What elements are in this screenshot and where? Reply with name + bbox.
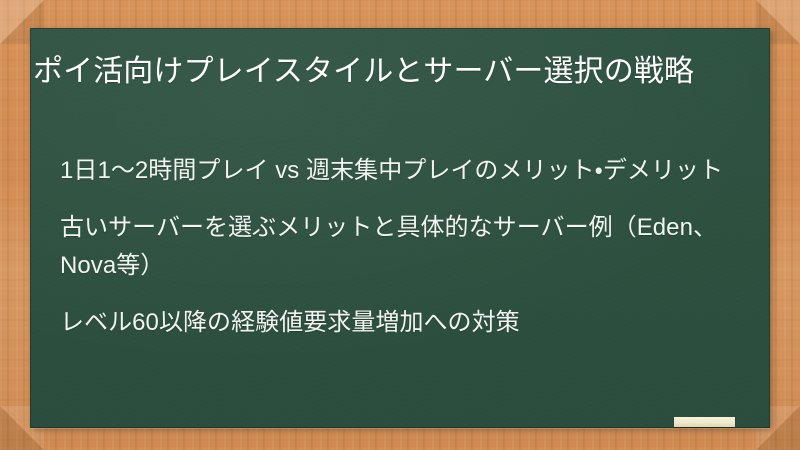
slide-content: ポイ活向けプレイスタイルとサーバー選択の戦略 1日1〜2時間プレイ vs 週末集… (30, 28, 770, 428)
chalkboard-surface: ポイ活向けプレイスタイルとサーバー選択の戦略 1日1〜2時間プレイ vs 週末集… (30, 28, 770, 428)
chalk-piece (674, 417, 735, 427)
chalkboard-slide: ポイ活向けプレイスタイルとサーバー選択の戦略 1日1〜2時間プレイ vs 週末集… (0, 0, 800, 450)
list-item: レベル60以降の経験値要求量増加への対策 (60, 304, 750, 342)
list-item: 古いサーバーを選ぶメリットと具体的なサーバー例（Eden、Nova等） (60, 209, 750, 285)
slide-body-list: 1日1〜2時間プレイ vs 週末集中プレイのメリット・デメリット 古いサーバーを… (60, 152, 750, 342)
list-item: 1日1〜2時間プレイ vs 週末集中プレイのメリット・デメリット (60, 152, 750, 190)
page-title: ポイ活向けプレイスタイルとサーバー選択の戦略 (33, 52, 739, 92)
